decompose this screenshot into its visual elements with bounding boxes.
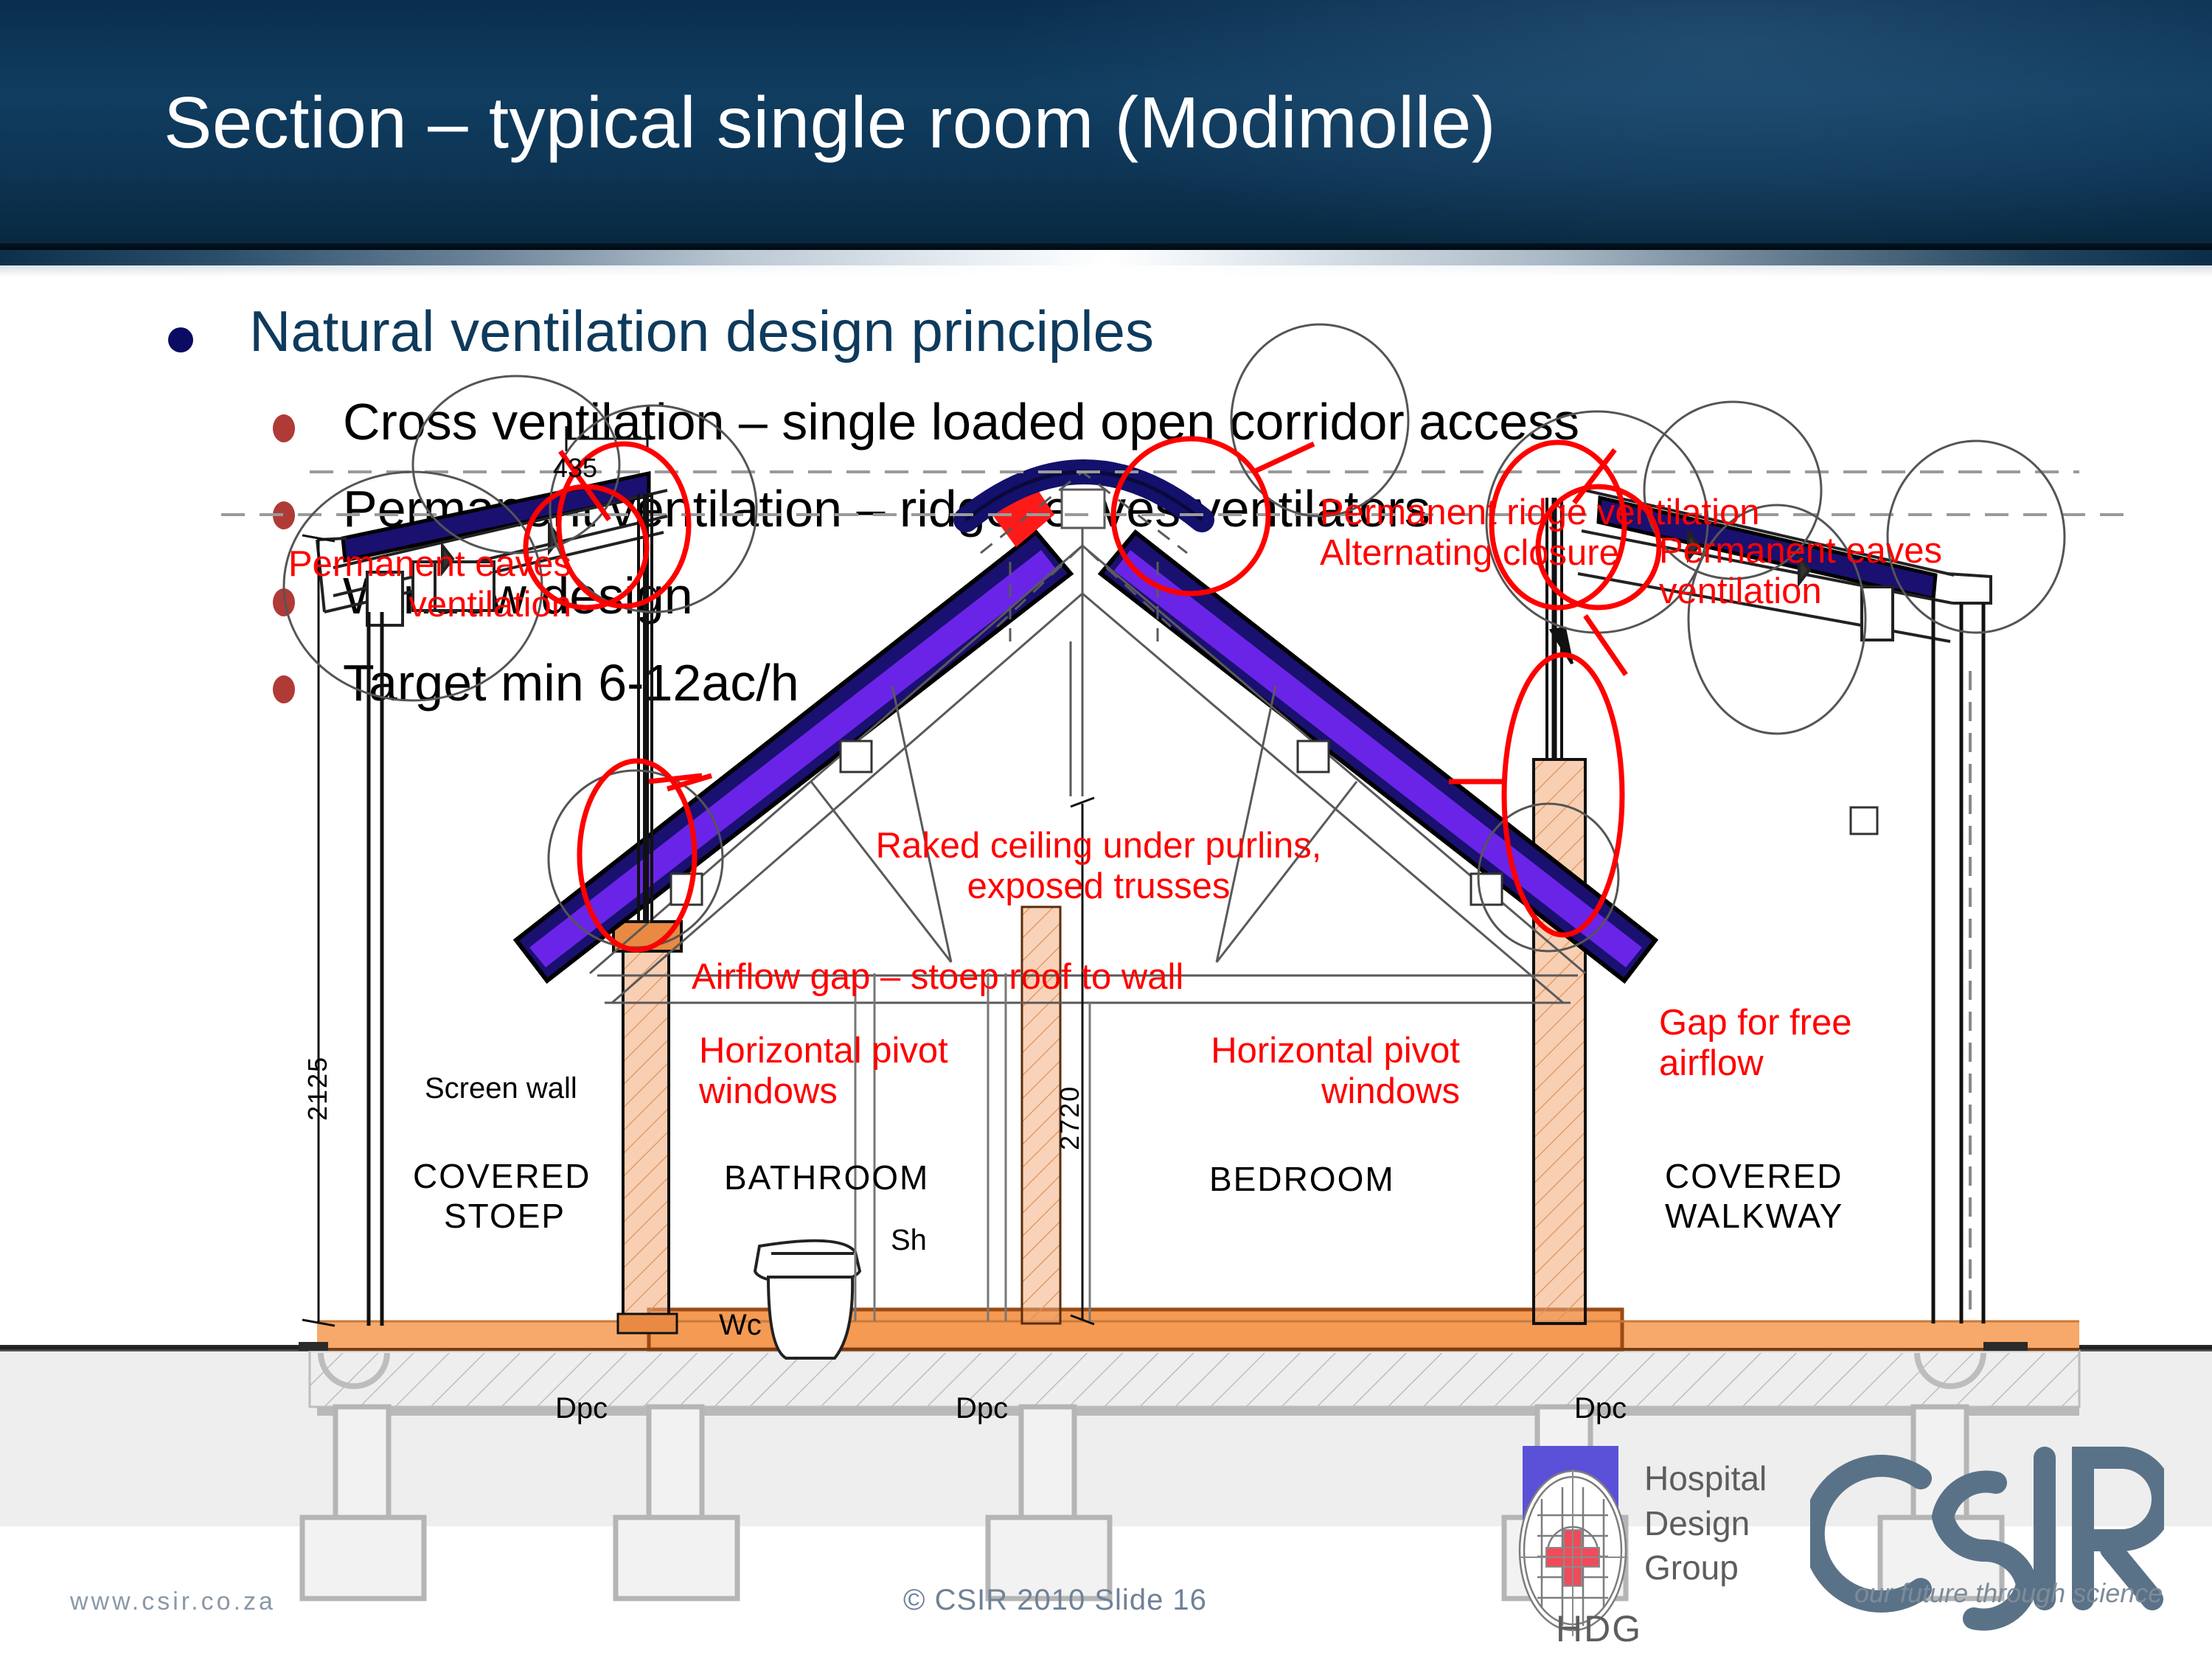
bullet-level1: Natural ventilation design principles xyxy=(168,298,1938,379)
building-section-drawing: Screen wall COVERED STOEP BATHROOM Sh Wc… xyxy=(0,560,2212,1526)
annotation-raked-ceiling: Raked ceiling under purlins, exposed tru… xyxy=(826,826,1371,907)
cad-label-dpc-left: Dpc xyxy=(555,1392,608,1425)
cad-label-covered-stoep-1: COVERED xyxy=(413,1156,591,1196)
cad-label-screen-wall: Screen wall xyxy=(425,1072,577,1105)
leader-gap-free xyxy=(1585,616,1626,675)
slide-footer: www.csir.co.za © CSIR 2010 Slide 16 xyxy=(0,1526,2212,1659)
bullet-dot-icon xyxy=(273,414,295,442)
cad-label-dpc-mid: Dpc xyxy=(956,1392,1008,1425)
footer-url[interactable]: www.csir.co.za xyxy=(70,1587,276,1616)
cad-dimension-435: 435 xyxy=(553,453,597,484)
annotation-pivot-left: Horizontal pivot windows xyxy=(699,1031,948,1112)
cad-label-covered-stoep-2: STOEP xyxy=(444,1196,566,1236)
annotation-pivot-right: Horizontal pivot windows xyxy=(1091,1031,1460,1112)
bullet-level2-label: Cross ventilation – single loaded open c… xyxy=(343,392,1579,451)
cad-label-bedroom: BEDROOM xyxy=(1209,1159,1395,1199)
annotation-eaves-left: Permanent eaves ventilation xyxy=(221,544,571,625)
bullet-level1-label: Natural ventilation design principles xyxy=(249,298,1154,365)
bullet-dot-icon xyxy=(168,327,193,352)
cad-label-covered-walkway-1: COVERED xyxy=(1665,1156,1843,1196)
cad-label-covered-walkway-2: WALKWAY xyxy=(1665,1196,1843,1236)
header-fade xyxy=(0,265,2212,277)
cad-dimension-2125: 2125 xyxy=(302,1056,333,1121)
header-bottom-edge xyxy=(0,243,2212,250)
cad-label-bathroom: BATHROOM xyxy=(724,1158,929,1197)
page-title: Section – typical single room (Modimolle… xyxy=(164,81,1496,164)
cad-label-wc: Wc xyxy=(719,1309,762,1342)
annotation-gap-free-airflow: Gap for free airflow xyxy=(1659,1003,1851,1084)
cad-dimension-2720: 2720 xyxy=(1054,1085,1085,1150)
annotation-airflow-gap: Airflow gap – stoep roof to wall xyxy=(692,957,1183,998)
bullet-level2-0: Cross ventilation – single loaded open c… xyxy=(273,392,2079,466)
annotation-eaves-right: Permanent eaves ventilation xyxy=(1659,531,1942,612)
cad-label-dpc-right: Dpc xyxy=(1574,1392,1627,1425)
slide: Section – typical single room (Modimolle… xyxy=(0,0,2212,1659)
floor-slab xyxy=(317,1310,2079,1351)
cad-label-sh: Sh xyxy=(891,1224,927,1257)
footer-copyright: © CSIR 2010 Slide 16 xyxy=(903,1584,1207,1617)
